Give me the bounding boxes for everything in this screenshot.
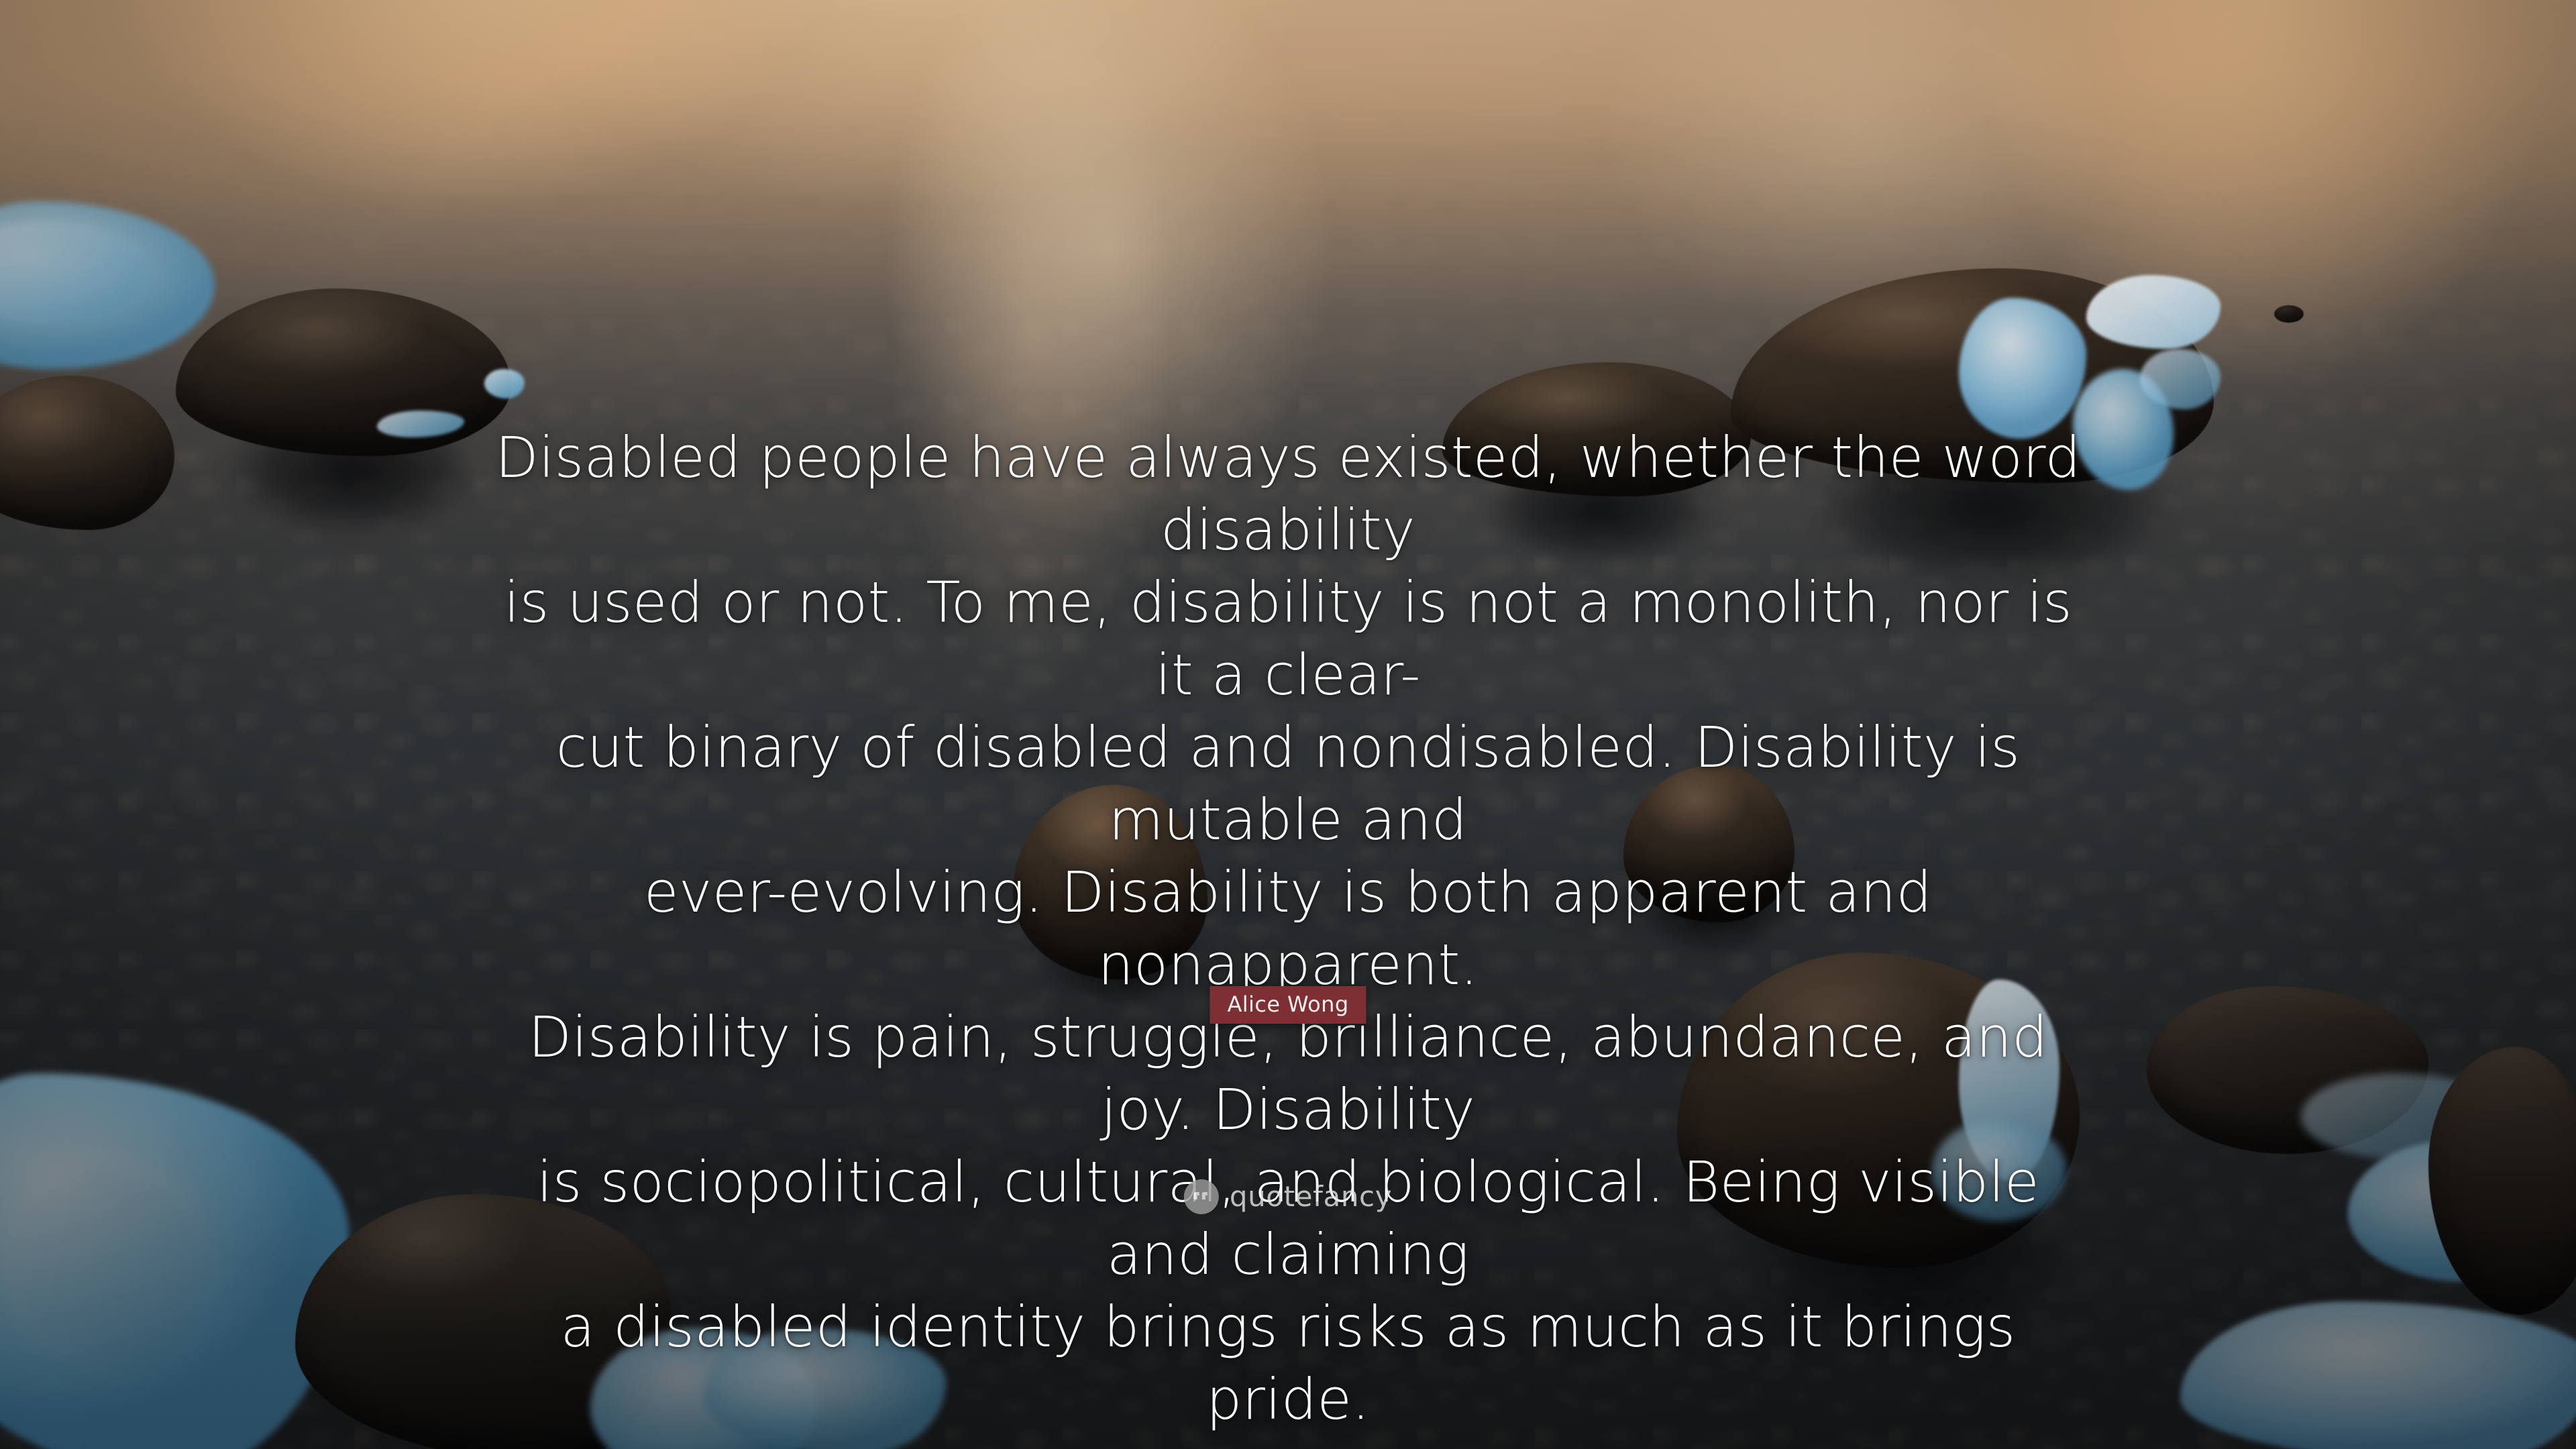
author-badge[interactable]: Alice Wong (1210, 986, 1366, 1024)
quotefancy-wordmark: quotefancy (1230, 1183, 1392, 1211)
wallpaper-canvas: Disabled people have always existed, whe… (0, 0, 2576, 1449)
quotefancy-logo[interactable]: quotefancy (1184, 1179, 1392, 1214)
double-quote-icon (1184, 1179, 1219, 1214)
quote-text: Disabled people have always existed, whe… (476, 421, 2100, 1436)
quote-overlay: Disabled people have always existed, whe… (0, 0, 2576, 1449)
